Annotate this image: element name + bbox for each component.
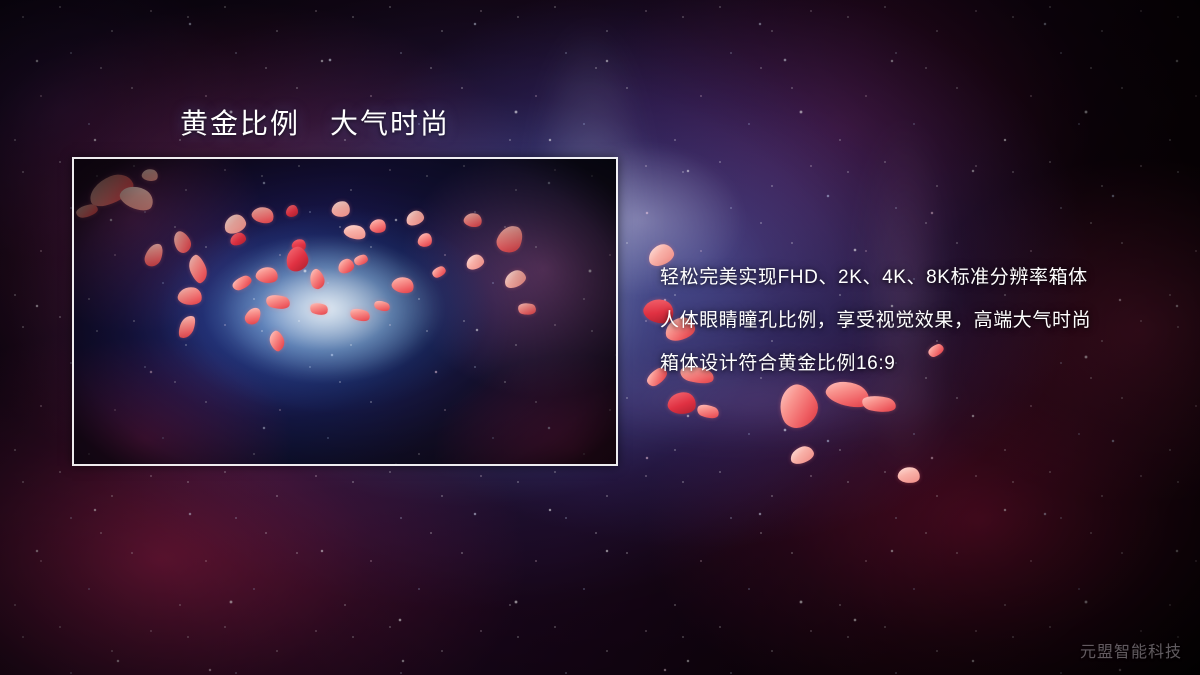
body-line: 箱体设计符合黄金比例16:9 xyxy=(660,342,1180,385)
slide-canvas: 黄金比例 大气时尚 轻松完美实现FHD、2K、4K、8K标准分辨率箱体 人体眼睛… xyxy=(0,0,1200,675)
body-line: 人体眼睛瞳孔比例，享受视觉效果，高端大气时尚 xyxy=(660,299,1180,342)
body-line: 轻松完美实现FHD、2K、4K、8K标准分辨率箱体 xyxy=(660,256,1180,299)
framed-image xyxy=(72,157,618,466)
body-copy: 轻松完美实现FHD、2K、4K、8K标准分辨率箱体 人体眼睛瞳孔比例，享受视觉效… xyxy=(660,256,1180,385)
framed-image-vignette xyxy=(74,159,616,464)
page-title: 黄金比例 大气时尚 xyxy=(180,102,450,142)
watermark: 元盟智能科技 xyxy=(1080,638,1182,662)
